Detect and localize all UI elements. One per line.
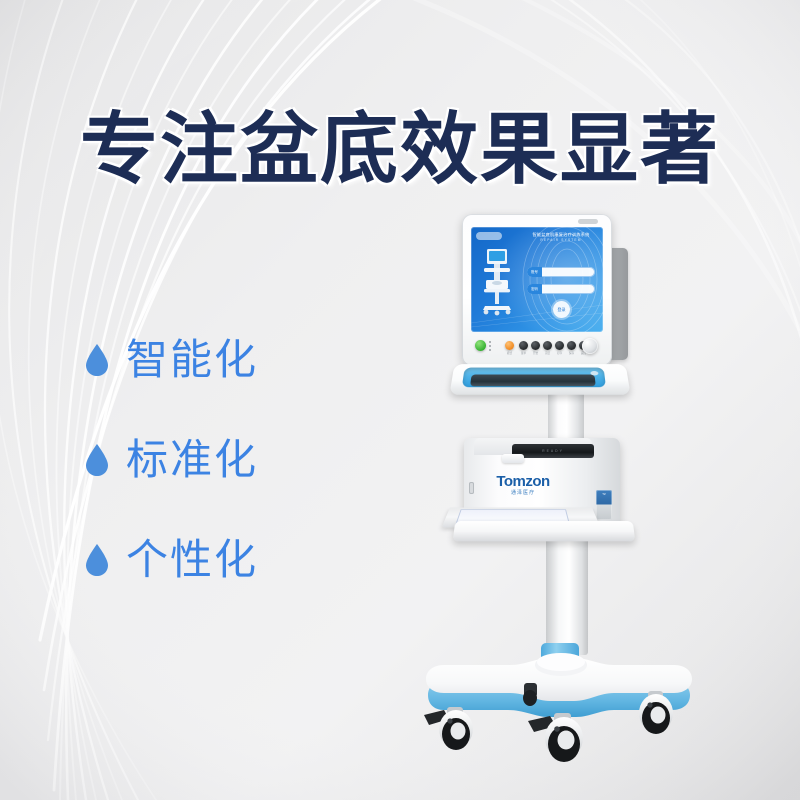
- keyboard-tray: [449, 364, 630, 395]
- monitor-screen[interactable]: 智能盆底肌康复治疗训练系统 REPAIR SYSTEM: [471, 227, 603, 332]
- control-knob[interactable]: [582, 338, 598, 354]
- monitor-handle[interactable]: [578, 219, 598, 224]
- list-item: 智能化: [84, 310, 354, 410]
- printer: READY Tomzon 通泽医疗 TZ: [464, 438, 620, 528]
- water-drop-icon: [84, 343, 110, 377]
- feature-label: 个性化: [126, 539, 258, 581]
- printer-side-panel: TZ: [596, 490, 612, 520]
- mode-button[interactable]: [505, 341, 514, 350]
- trolley-base: [400, 625, 720, 775]
- keyboard[interactable]: [470, 375, 596, 387]
- page-title: 专注盆底效果显著: [0, 110, 800, 188]
- feature-label: 智能化: [126, 339, 258, 381]
- keyboard-tray-inner: [462, 368, 606, 388]
- password-field[interactable]: 密码: [527, 284, 595, 294]
- print-button[interactable]: [555, 341, 564, 350]
- screen-brand-logo: [476, 232, 502, 240]
- list-item: 个性化: [84, 510, 354, 610]
- poster-canvas: 专注盆底效果显著 智能化 标准化 个: [0, 0, 800, 800]
- start-button[interactable]: [531, 341, 540, 350]
- water-drop-icon: [84, 543, 110, 577]
- power-button[interactable]: [475, 340, 486, 351]
- water-drop-icon: [84, 443, 110, 477]
- username-field[interactable]: 账号: [527, 267, 595, 277]
- freeze-button[interactable]: [543, 341, 552, 350]
- screen-subtitle: REPAIR SYSTEM: [523, 238, 599, 243]
- menu-button[interactable]: [519, 341, 528, 350]
- list-item: 标准化: [84, 410, 354, 510]
- caster: [528, 713, 583, 762]
- mouse[interactable]: [590, 371, 598, 375]
- username-field-label: 账号: [527, 267, 542, 277]
- feature-list: 智能化 标准化 个性化: [84, 310, 354, 610]
- caster: [523, 683, 537, 706]
- feature-label: 标准化: [126, 439, 258, 481]
- printer-side-button[interactable]: [469, 482, 474, 494]
- screen-device-thumbnail: [480, 246, 514, 316]
- login-button[interactable]: 登录: [553, 301, 570, 318]
- mode-button-label: 模式: [503, 351, 517, 355]
- caster: [424, 707, 473, 750]
- password-field-label: 密码: [527, 284, 542, 294]
- printer-display-text: READY: [512, 444, 594, 458]
- status-leds: [489, 341, 491, 351]
- device-trolley: 智能盆底肌康复治疗训练系统 REPAIR SYSTEM: [400, 200, 720, 770]
- printer-brand: Tomzon 通泽医疗: [464, 474, 582, 496]
- printer-panel-text: TZ: [596, 492, 612, 496]
- monitor-control-panel: 模式 菜单 开始 冻结 打印 保存 返回: [471, 335, 603, 357]
- monitor: 智能盆底肌康复治疗训练系统 REPAIR SYSTEM: [462, 214, 612, 366]
- printer-brand-name-cn: 通泽医疗: [464, 491, 582, 496]
- save-button[interactable]: [567, 341, 576, 350]
- printer-shelf: [453, 521, 636, 541]
- paper-stopper[interactable]: [502, 454, 524, 463]
- printer-brand-name: Tomzon: [464, 474, 582, 489]
- printer-display: READY: [512, 444, 594, 458]
